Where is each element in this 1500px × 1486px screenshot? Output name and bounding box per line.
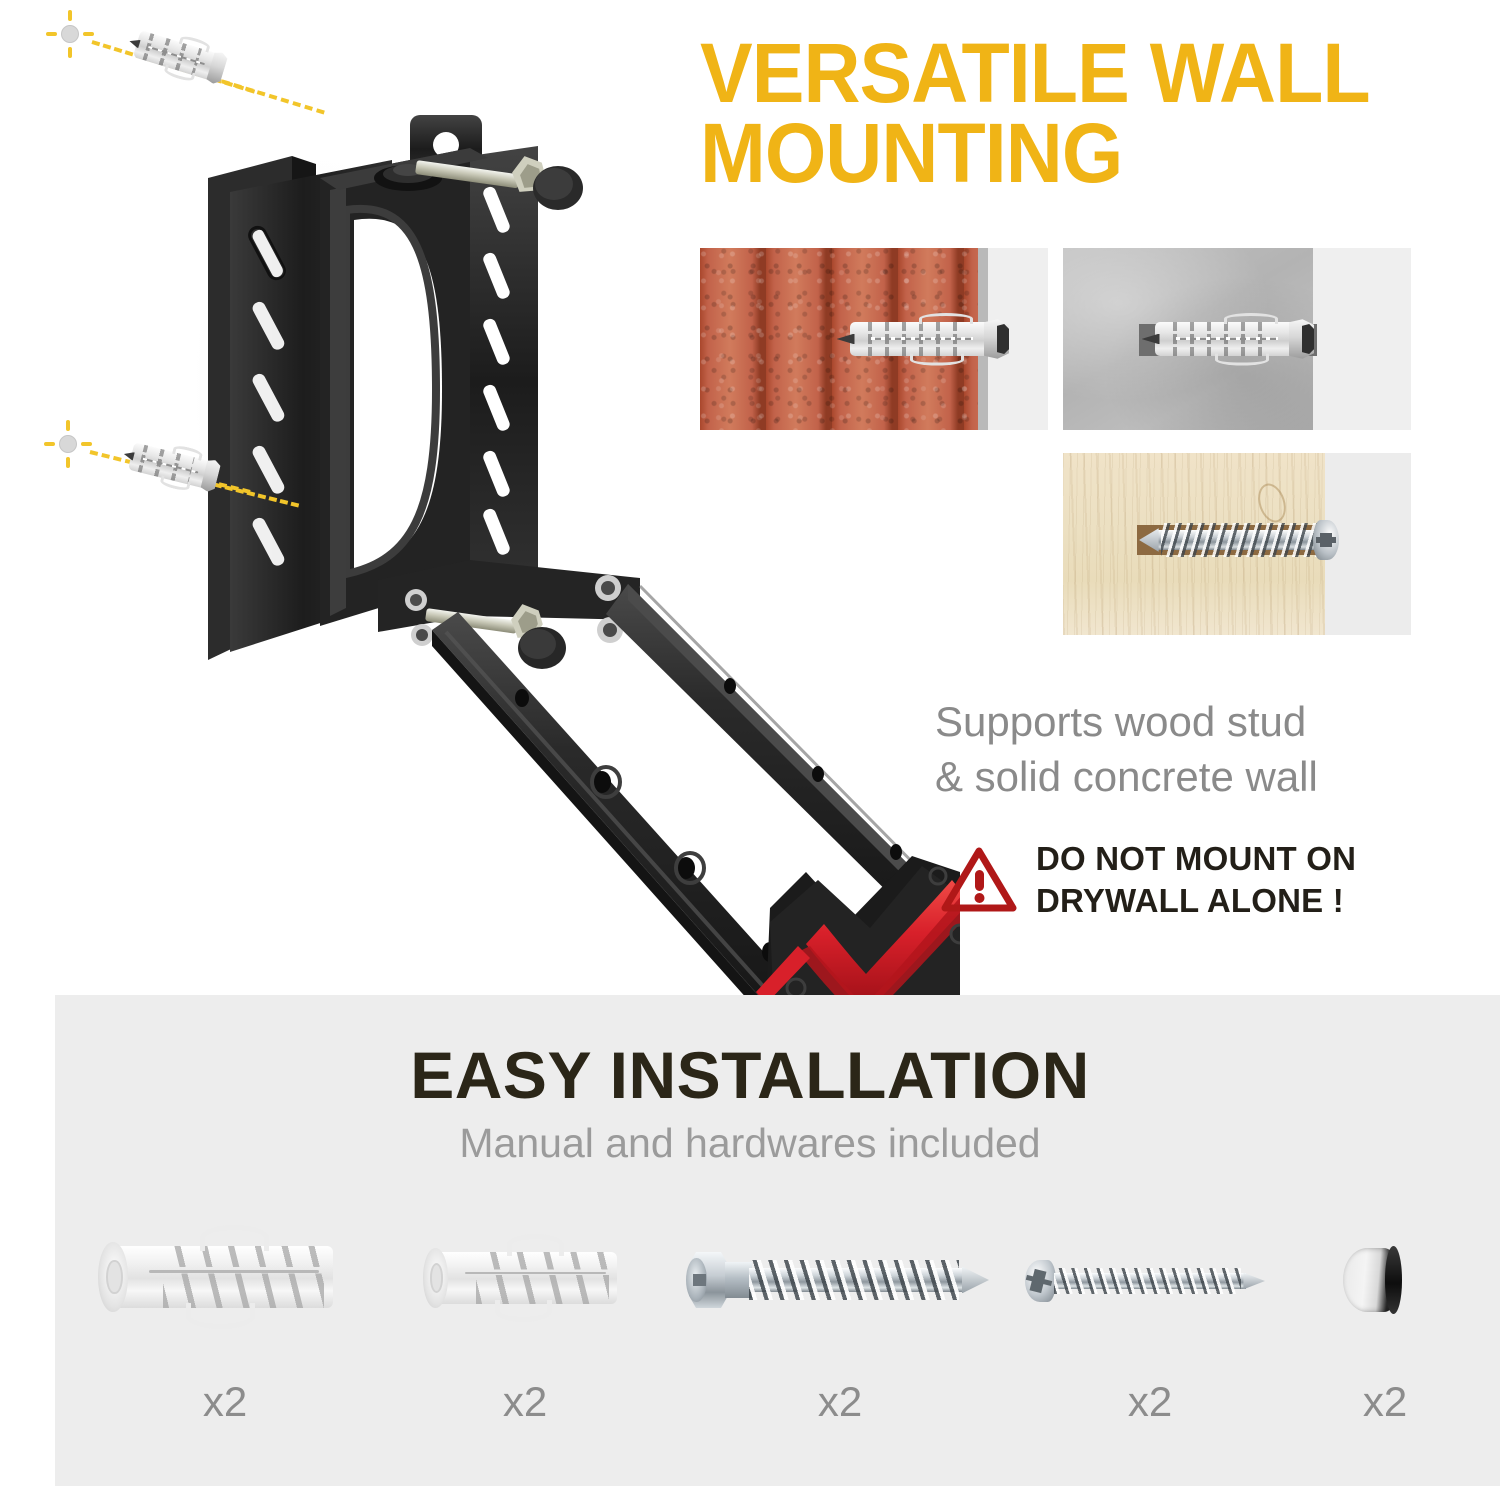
screw-icon	[1005, 1210, 1295, 1360]
wall-plate	[208, 115, 640, 669]
hardware-qty: x2	[675, 1378, 1005, 1426]
burst-ray	[46, 32, 57, 36]
supports-line-1: Supports wood stud	[935, 694, 1455, 749]
hardware-item-end-cap: x2	[1295, 1210, 1475, 1460]
wall-sample-wood	[1063, 453, 1411, 635]
hardware-qty: x2	[1295, 1378, 1475, 1426]
end-cap-icon	[1295, 1210, 1475, 1360]
warning-triangle-icon	[940, 844, 1018, 916]
burst-ray	[83, 32, 94, 36]
burst-dot	[59, 435, 77, 453]
warning-text: DO NOT MOUNT ON DRYWALL ALONE !	[1036, 838, 1356, 922]
burst-ray	[68, 47, 72, 58]
hardware-item-lag-bolt: x2	[675, 1210, 1005, 1460]
infographic-canvas: VERSATILE WALL MOUNTING	[0, 0, 1500, 1486]
supports-line-2: & solid concrete wall	[935, 749, 1455, 804]
hardware-qty: x2	[1005, 1378, 1295, 1426]
burst-marker-top	[48, 12, 92, 56]
burst-ray	[68, 10, 72, 21]
drywall-warning: DO NOT MOUNT ON DRYWALL ALONE !	[940, 838, 1460, 922]
screw-icon-wood	[1141, 519, 1337, 561]
easy-installation-panel: EASY INSTALLATION Manual and hardwares i…	[55, 995, 1500, 1486]
burst-ray	[81, 442, 92, 446]
warning-line-2: DRYWALL ALONE !	[1036, 880, 1356, 922]
burst-ray	[66, 420, 70, 431]
hardware-qty: x2	[75, 1378, 375, 1426]
anchor-icon-concrete	[1155, 322, 1305, 356]
hardware-item-large-anchor: x2	[75, 1210, 375, 1460]
supports-text: Supports wood stud & solid concrete wall	[935, 694, 1455, 805]
install-subtitle: Manual and hardwares included	[55, 1120, 1445, 1167]
burst-marker-bottom	[46, 422, 90, 466]
lag-bolt-icon	[675, 1210, 1005, 1360]
warning-line-1: DO NOT MOUNT ON	[1036, 838, 1356, 880]
wall-anchor-icon	[75, 1210, 375, 1360]
wall-anchor-icon	[375, 1210, 675, 1360]
hardware-qty: x2	[375, 1378, 675, 1426]
hardware-item-small-anchor: x2	[375, 1210, 675, 1460]
wall-outside	[1313, 248, 1411, 430]
hardware-list: x2 x2	[55, 1210, 1500, 1460]
hook-head	[756, 856, 960, 1010]
burst-ray	[44, 442, 55, 446]
anchor-icon-brick	[850, 322, 1000, 356]
burst-ray	[66, 457, 70, 468]
product-photo	[170, 60, 960, 1010]
wall-sample-concrete	[1063, 248, 1411, 430]
burst-dot	[61, 25, 79, 43]
wall-sample-brick	[700, 248, 1048, 430]
install-title: EASY INSTALLATION	[55, 1037, 1445, 1113]
anchor-icon-top	[133, 30, 223, 82]
hardware-item-screw: x2	[1005, 1210, 1295, 1460]
